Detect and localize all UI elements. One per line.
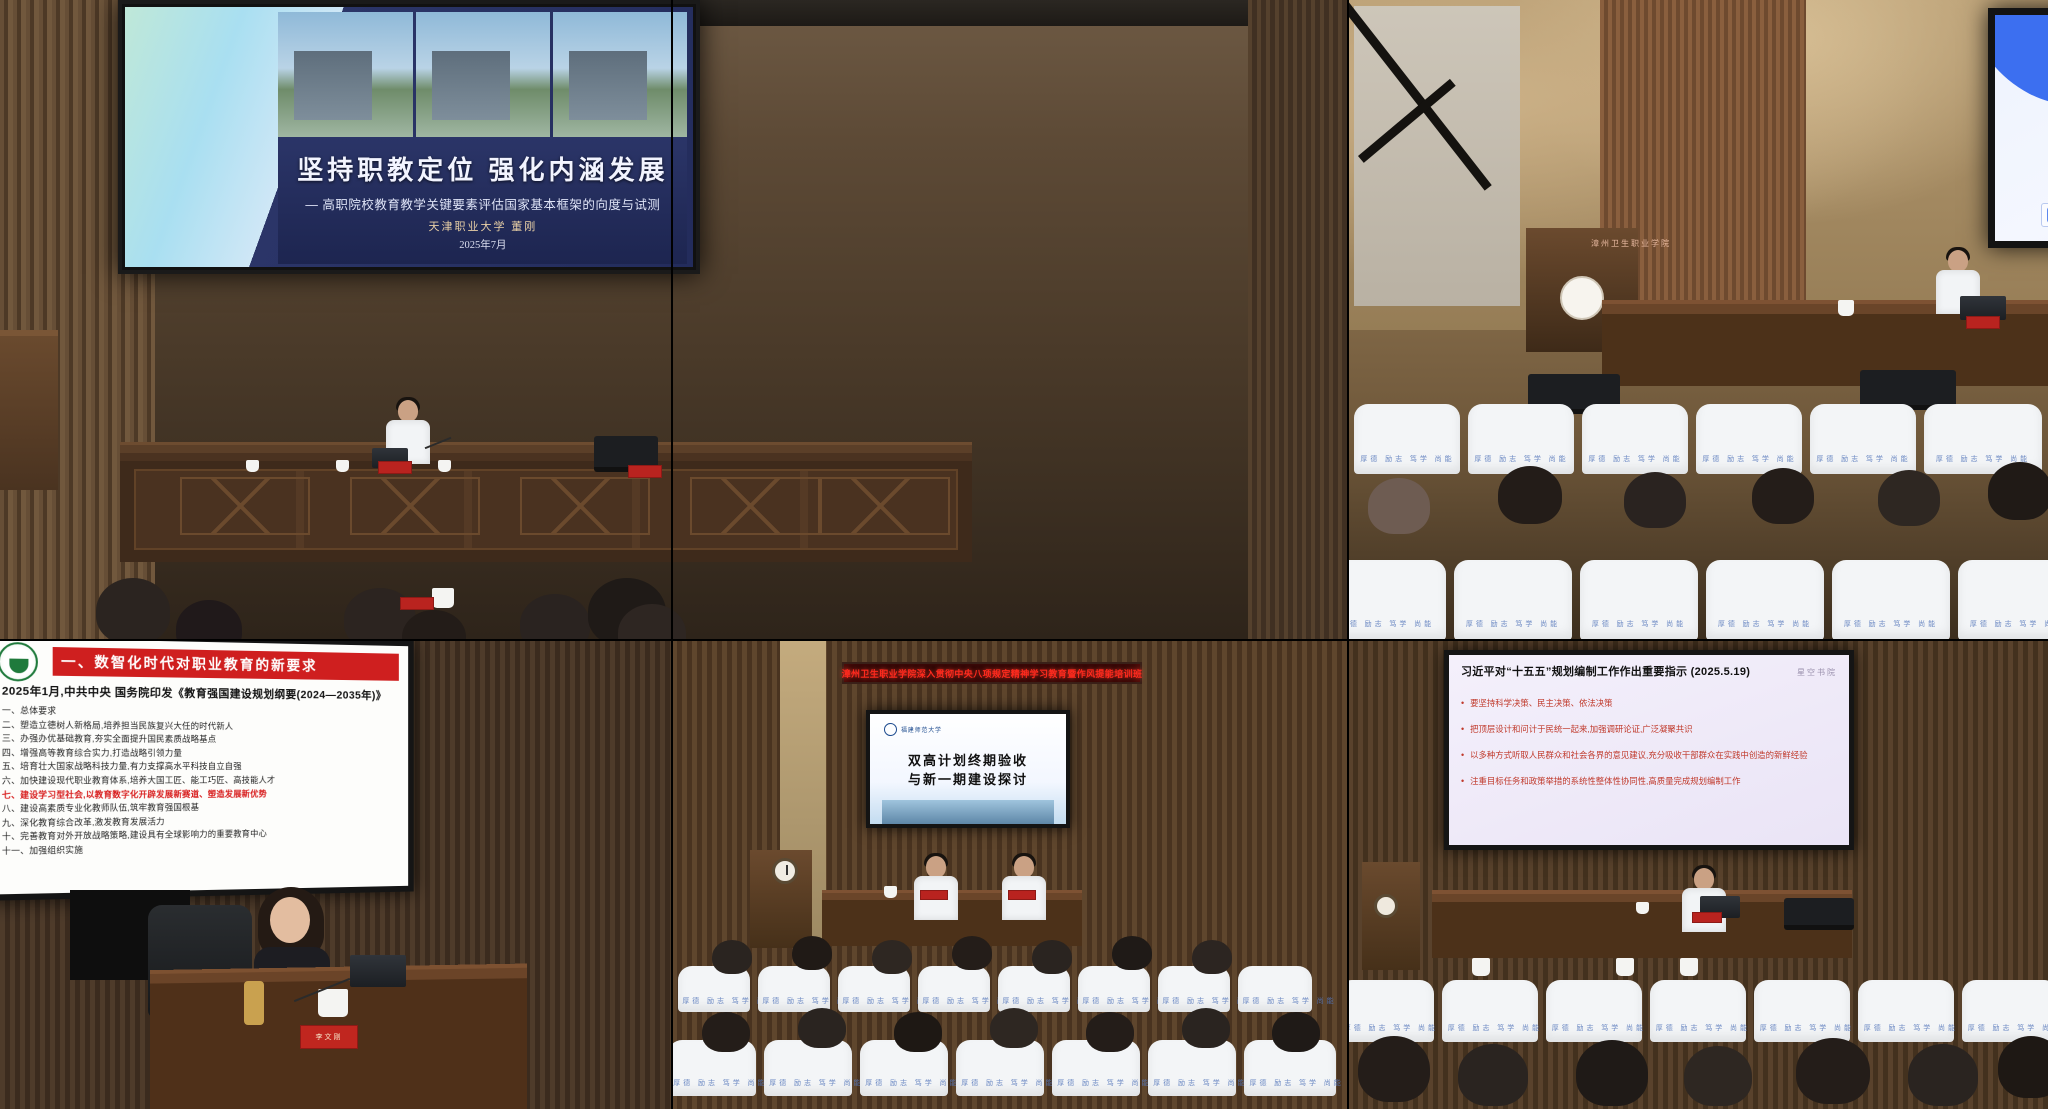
projection-screen-1: 坚持职教定位 强化内涵发展 — 高职院校教育教学关键要素评估国家基本框架的向度与… (118, 0, 700, 274)
laptop (350, 955, 406, 987)
head (1014, 856, 1034, 878)
logo-mark-icon (884, 723, 897, 736)
head (398, 400, 418, 422)
bullet-item: • 注重目标任务和政策举措的系统性整体性协同性,高质量完成规划编制工作 (1461, 775, 1837, 788)
monitor (1784, 898, 1854, 930)
audience-chair: 厚德 励志 笃学 尚能 (956, 1040, 1044, 1096)
audience-head (1878, 470, 1940, 526)
tea-cup (246, 460, 259, 472)
audience-head (1908, 1044, 1978, 1106)
tea-cup (318, 989, 348, 1017)
name-plate: 李文刚 (300, 1025, 358, 1049)
panel-divider (671, 640, 673, 1109)
audience-head (1368, 478, 1430, 534)
bullet-text: 以多种方式听取人民群众和社会各界的意见建议,充分吸收干部群众在实践中创造的新鲜经… (1470, 749, 1807, 762)
slide-4-title: 双高计划终期验收 与新一期建设探讨 (870, 752, 1066, 790)
bullet-text: 要坚持科学决策、民主决策、依法决策 (1470, 697, 1612, 710)
audience-chair: 厚德 励志 笃学 尚能 (1238, 966, 1312, 1012)
slide-1-title: 坚持职教定位 强化内涵发展 (297, 150, 668, 187)
slide-1-subtitle: — 高职院校教育教学关键要素评估国家基本框架的向度与试测 (305, 194, 660, 213)
slide-1-date: 2025年7月 (459, 237, 506, 252)
audience-chair: 厚德 励志 笃学 尚能 (1348, 980, 1434, 1042)
tea-cup (1680, 958, 1698, 976)
podium (0, 330, 58, 490)
chair-cover-text: 厚德 励志 笃学 尚能 (865, 1078, 942, 1088)
panel-divider (671, 0, 673, 640)
chair-cover-text: 厚德 励志 笃学 尚能 (1153, 1078, 1230, 1088)
slide-4-campus-photo (882, 800, 1055, 824)
head (1948, 250, 1968, 272)
tea-cup (1838, 300, 1854, 316)
audience-head (96, 578, 170, 640)
wall-door-panel (1354, 6, 1520, 306)
audience-head (176, 600, 242, 640)
slide-2-org: 全国医护康养服务能力重构研究中心 (2029, 185, 2048, 198)
name-plate (1692, 912, 1722, 923)
name-plate (628, 465, 662, 478)
chair-cover-text: 厚德 励志 笃学 尚能 (1656, 1023, 1741, 1033)
projection-screen-5: 习近平对“十五五”规划编制工作作出重要指示 (2025.5.19) 星空书院 •… (1444, 650, 1854, 850)
audience-chair: 厚德 励志 笃学 尚能 (1696, 404, 1802, 474)
chair-cover-text: 厚德 励志 笃学 尚能 (1448, 1023, 1533, 1033)
audience-chair: 厚德 励志 笃学 尚能 (1078, 966, 1150, 1012)
slide-1-title-block: 坚持职教定位 强化内涵发展 — 高职院校教育教学关键要素评估国家基本框架的向度与… (278, 137, 687, 264)
name-plate (378, 461, 412, 474)
desk-panel (820, 477, 950, 535)
slide-3-list: 一、总体要求 二、塑造立德树人新格局,培养担当民族复兴大任的时代新人 三、办强办… (2, 704, 399, 859)
university-name: 福建师范大学 (901, 725, 942, 734)
audience-head (1182, 1008, 1230, 1048)
chair-cover-text: 厚德 励志 笃学 尚能 (762, 996, 825, 1006)
slide-1-campus-photos (278, 12, 687, 137)
bullet-dot-icon: • (1461, 749, 1464, 762)
audience-head (1576, 1040, 1648, 1106)
chair-cover-text: 厚德 励志 笃学 尚能 (1965, 619, 2048, 629)
chair-cover-text: 厚德 励志 笃学 尚能 (1474, 454, 1567, 464)
audience-chair: 厚德 励志 笃学 尚能 (1962, 980, 2048, 1042)
audience-chair: 厚德 励志 笃学 尚能 (1454, 560, 1572, 640)
audience-head (1998, 1036, 2048, 1098)
audience-chair: 厚德 励志 笃学 尚能 (918, 966, 990, 1012)
name-plate (400, 597, 434, 610)
tea-cup (1472, 958, 1490, 976)
bullet-item: • 以多种方式听取人民群众和社会各界的意见建议,充分吸收干部群众在实践中创造的新… (1461, 749, 1837, 762)
audience-head (1752, 468, 1814, 524)
audience-head (1498, 466, 1562, 524)
chair-cover-text: 厚德 励志 笃学 尚能 (673, 1078, 750, 1088)
panel-bottom-right: 习近平对“十五五”规划编制工作作出重要指示 (2025.5.19) 星空书院 •… (1348, 640, 2048, 1109)
slide-4-title-line2: 与新一期建设探讨 (870, 771, 1066, 790)
audience-chair: 厚德 励志 笃学 尚能 (1754, 980, 1850, 1042)
led-banner-text: 漳州卫生职业学院深入贯彻中央八项规定精神学习教育暨作风提能培训班 (842, 667, 1143, 680)
slide-4-title-line1: 双高计划终期验收 (870, 752, 1066, 771)
name-plate-text: 李文刚 (316, 1032, 343, 1042)
audience-chair: 厚德 励志 笃学 尚能 (1348, 560, 1446, 640)
chair-cover-text: 厚德 励志 笃学 尚能 (1082, 996, 1145, 1006)
audience-chair: 厚德 励志 笃学 尚能 (1650, 980, 1746, 1042)
chair-cover-text: 厚德 励志 笃学 尚能 (769, 1078, 846, 1088)
panel-divider (1347, 0, 1349, 640)
chair-cover-text: 厚德 励志 笃学 尚能 (1864, 1023, 1949, 1033)
audience-chair: 厚德 励志 笃学 尚能 (1442, 980, 1538, 1042)
chair-cover-text: 厚德 励志 笃学 尚能 (682, 996, 745, 1006)
bullet-text: 注重目标任务和政策举措的系统性整体性协同性,高质量完成规划编制工作 (1470, 775, 1740, 788)
audience-chair: 厚德 励志 笃学 尚能 (1546, 980, 1642, 1042)
bullet-item: • 要坚持科学决策、民主决策、依法决策 (1461, 697, 1837, 710)
slide-3: 一、数智化时代对职业教育的新要求 2025年1月,中共中央 国务院印发《教育强国… (0, 640, 408, 895)
audience-head (872, 940, 912, 974)
panel-top-right: 基于经济社会发展需求适配性的 卫生健康类高职专业群建设未来路向 全国医护康养服务… (1348, 0, 2048, 640)
audience-chair: 厚德 励志 笃学 尚能 (1468, 404, 1574, 474)
school-emblem (1560, 276, 1604, 320)
projection-screen-4: 福建师范大学 双高计划终期验收 与新一期建设探讨 汇报人:李云龙 2025年7月 (866, 710, 1070, 828)
slide-5-watermark: 星空书院 (1797, 667, 1837, 678)
bullet-text: 把顶层设计和问计于民统一起来,加强调研论证,广泛凝聚共识 (1470, 723, 1692, 736)
projection-screen-2: 基于经济社会发展需求适配性的 卫生健康类高职专业群建设未来路向 全国医护康养服务… (1988, 8, 2048, 248)
name-plate (1008, 890, 1036, 900)
audience-head (952, 936, 992, 970)
panel-divider (1347, 640, 1349, 1109)
audience-chair: 厚德 励志 笃学 尚能 (1810, 404, 1916, 474)
chair-cover-text: 厚德 励志 笃学 尚能 (842, 996, 905, 1006)
bullet-dot-icon: • (1461, 723, 1464, 736)
slide-5-header: 习近平对“十五五”规划编制工作作出重要指示 (2025.5.19) 星空书院 (1461, 663, 1837, 679)
desk-panel (520, 477, 650, 535)
audience-head (1684, 1046, 1752, 1106)
list-item: 四、增强高等教育综合实力,打造战略引领力量 (2, 746, 399, 760)
chair-cover-text: 厚德 励志 笃学 尚能 (1002, 996, 1065, 1006)
wall-clock (772, 858, 798, 884)
chair-cover-text: 厚德 励志 笃学 尚能 (1713, 619, 1817, 629)
photo-collage: 坚持职教定位 强化内涵发展 — 高职院校教育教学关键要素评估国家基本框架的向度与… (0, 0, 2048, 1109)
audience-chair: 厚德 励志 笃学 尚能 (764, 1040, 852, 1096)
bullet-dot-icon: • (1461, 697, 1464, 710)
slide-5-bullets: • 要坚持科学决策、民主决策、依法决策 • 把顶层设计和问计于民统一起来,加强调… (1461, 697, 1837, 788)
slide-1: 坚持职教定位 强化内涵发展 — 高职院校教育教学关键要素评估国家基本框架的向度与… (125, 7, 693, 267)
chair-cover-text: 厚德 励志 笃学 尚能 (1968, 1023, 2048, 1033)
bullet-dot-icon: • (1461, 775, 1464, 788)
campus-photo (278, 12, 412, 137)
tea-cup (336, 460, 349, 472)
audience-chair: 厚德 励志 笃学 尚能 (758, 966, 830, 1012)
slide-4: 福建师范大学 双高计划终期验收 与新一期建设探讨 汇报人:李云龙 2025年7月 (870, 714, 1066, 824)
bullet-item: • 把顶层设计和问计于民统一起来,加强调研论证,广泛凝聚共识 (1461, 723, 1837, 736)
chair-cover-text: 厚德 励志 笃学 尚能 (1461, 619, 1565, 629)
slide-2-chips: 金华职业技术大学 何野 国际职业教育研究院 孝亮文敏 (2041, 203, 2048, 227)
projection-screen-3: 一、数智化时代对职业教育的新要求 2025年1月,中共中央 国务院印发《教育强国… (0, 640, 414, 901)
audience-chair: 厚德 励志 笃学 尚能 (1832, 560, 1950, 640)
audience-chair: 厚德 励志 笃学 尚能 (1582, 404, 1688, 474)
audience-head (792, 936, 832, 970)
tea-cup (1636, 902, 1649, 914)
audience-head (798, 1008, 846, 1048)
info-chip: 金华职业技术大学 何野 (2041, 203, 2048, 227)
slide-2-title: 基于经济社会发展需求适配性的 卫生健康类高职专业群建设未来路向 (2029, 99, 2048, 147)
chair-cover-text: 厚德 励志 笃学 尚能 (1702, 454, 1795, 464)
slide-2-title-line1: 基于经济社会发展需求适配性的 (2029, 99, 2048, 123)
head (270, 897, 310, 943)
head (926, 856, 946, 878)
chair-cover-text: 厚德 励志 笃学 尚能 (1057, 1078, 1134, 1088)
audience-head (520, 594, 590, 640)
audience-head (1086, 1012, 1134, 1052)
slide-2: 基于经济社会发展需求适配性的 卫生健康类高职专业群建设未来路向 全国医护康养服务… (1995, 15, 2048, 241)
audience-chair: 厚德 励志 笃学 尚能 (1354, 404, 1460, 474)
audience-chair: 厚德 励志 笃学 尚能 (1706, 560, 1824, 640)
slide-1-author: 天津职业大学 董刚 (428, 218, 537, 234)
chair-cover-text: 厚德 励志 笃学 尚能 (1760, 1023, 1845, 1033)
tea-cup (438, 460, 451, 472)
chair-cover-text: 厚德 励志 笃学 尚能 (1588, 454, 1681, 464)
audience-head (1796, 1038, 1870, 1104)
audience-head (1624, 472, 1686, 528)
chair-cover-text: 厚德 励志 笃学 尚能 (1250, 1078, 1331, 1088)
desk-panel (690, 477, 820, 535)
list-item: 三、办强办优基础教育,夯实全面提升国民素质战略基点 (2, 732, 399, 747)
school-logo-icon (0, 642, 38, 682)
panel-divider (0, 639, 2048, 641)
chair-cover-text: 厚德 励志 笃学 尚能 (1360, 454, 1453, 464)
desk-panel (350, 477, 480, 535)
name-plate (1966, 316, 2000, 329)
audience-head (990, 1008, 1038, 1048)
audience-head (1112, 936, 1152, 970)
audience-head (702, 1012, 750, 1052)
panel-bottom-middle: 漳州卫生职业学院深入贯彻中央八项规定精神学习教育暨作风提能培训班 福建师范大学 … (672, 640, 1348, 1109)
decor-blob (1995, 15, 2048, 105)
tea-cup (432, 588, 454, 608)
audience-head (1358, 1036, 1430, 1102)
list-item: 五、培育壮大国家战略科技力量,有力支撑高水平科技自立自强 (2, 760, 399, 774)
audience-head (894, 1012, 942, 1052)
head (1694, 868, 1714, 890)
chair-cover-text: 厚德 励志 笃学 尚能 (922, 996, 985, 1006)
audience-chair: 厚德 励志 笃学 尚能 (1580, 560, 1698, 640)
slide-3-lead: 2025年1月,中共中央 国务院印发《教育强国建设规划纲要(2024—2035年… (2, 682, 399, 703)
panel-bottom-left: 一、数智化时代对职业教育的新要求 2025年1月,中共中央 国务院印发《教育强国… (0, 640, 672, 1109)
chair-cover-text: 厚德 励志 笃学 尚能 (1552, 1023, 1637, 1033)
university-logo: 福建师范大学 (884, 722, 958, 736)
chair-cover-text: 厚德 励志 笃学 尚能 (961, 1078, 1038, 1088)
chair-cover-text: 厚德 励志 笃学 尚能 (1816, 454, 1909, 464)
slide-2-title-line2: 卫生健康类高职专业群建设未来路向 (2029, 123, 2048, 147)
tea-cup (1616, 958, 1634, 976)
audience-head (1192, 940, 1232, 974)
podium-sign: 漳州卫生职业学院 (1556, 238, 1706, 249)
tea-cup (884, 886, 897, 898)
chair-cover-text: 厚德 励志 笃学 尚能 (1348, 619, 1439, 629)
wall-clock (1374, 894, 1398, 918)
chair-cover-text: 厚德 励志 笃学 尚能 (1587, 619, 1691, 629)
slide-5-title: 习近平对“十五五”规划编制工作作出重要指示 (2025.5.19) (1461, 663, 1750, 679)
audience-head (1032, 940, 1072, 974)
chair-cover-text: 厚德 励志 笃学 尚能 (1839, 619, 1943, 629)
chair-cover-text: 厚德 励志 笃学 尚能 (1162, 996, 1225, 1006)
audience-chair: 厚德 励志 笃学 尚能 (1858, 980, 1954, 1042)
campus-photo (553, 12, 687, 137)
led-banner: 漳州卫生职业学院深入贯彻中央八项规定精神学习教育暨作风提能培训班 (842, 662, 1142, 684)
audience-chair: 厚德 励志 笃学 尚能 (1148, 1040, 1236, 1096)
panel-top-left: 坚持职教定位 强化内涵发展 — 高职院校教育教学关键要素评估国家基本框架的向度与… (0, 0, 1348, 640)
campus-photo (416, 12, 550, 137)
thermos (244, 981, 264, 1025)
slide-3-banner: 一、数智化时代对职业教育的新要求 (53, 647, 399, 681)
desk-panel (180, 477, 310, 535)
audience-chair: 厚德 励志 笃学 尚能 (1958, 560, 2048, 640)
audience-head (712, 940, 752, 974)
audience-head (1988, 462, 2048, 520)
chair-cover-text: 厚德 励志 笃学 尚能 (1242, 996, 1307, 1006)
name-plate (920, 890, 948, 900)
audience-head (1458, 1044, 1528, 1106)
chair-cover-text: 厚德 励志 笃学 尚能 (1348, 1023, 1428, 1033)
slide-5: 习近平对“十五五”规划编制工作作出重要指示 (2025.5.19) 星空书院 •… (1449, 655, 1849, 845)
audience-head (1272, 1012, 1320, 1052)
wall-right-slats (1248, 0, 1348, 640)
